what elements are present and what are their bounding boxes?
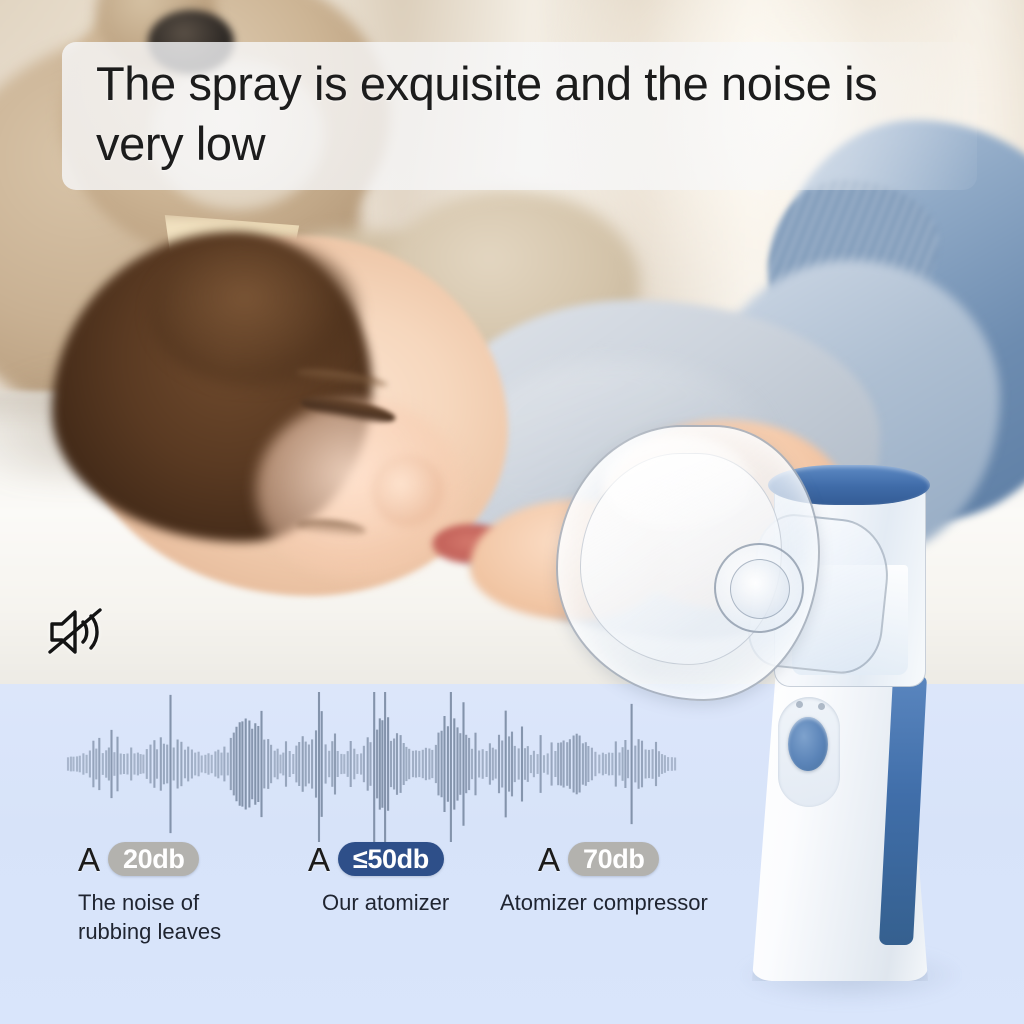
db-caption-leaves: The noise of rubbing leaves (78, 888, 221, 946)
mask-valve-inner (730, 559, 790, 619)
baby-nose (372, 455, 444, 527)
db-badge-line: A ≤50db (308, 842, 449, 876)
db-badge-20db: 20db (108, 842, 199, 876)
mask-valve (714, 543, 804, 633)
power-button[interactable] (788, 717, 828, 771)
db-badge-50db: ≤50db (338, 842, 444, 876)
db-badge-line: A 20db (78, 842, 221, 876)
db-prefix-a: A (78, 843, 100, 876)
mute-speaker-icon (42, 600, 112, 664)
nebulizer-device (556, 425, 966, 985)
product-infographic: The spray is exquisite and the noise is … (0, 0, 1024, 1024)
mask-highlight (602, 435, 752, 531)
db-item-leaves: A 20db The noise of rubbing leaves (78, 842, 221, 946)
headline-banner: The spray is exquisite and the noise is … (62, 42, 977, 190)
headline-line-1: The spray is exquisite and the noise is (96, 54, 957, 114)
headline-line-2: very low (96, 114, 957, 174)
baby-hair-highlight (150, 238, 360, 388)
indicator-dot (818, 703, 825, 710)
db-caption-our-atomizer: Our atomizer (322, 888, 449, 917)
db-prefix-a: A (308, 843, 330, 876)
indicator-dot (796, 701, 803, 708)
db-item-our-atomizer: A ≤50db Our atomizer (308, 842, 449, 917)
